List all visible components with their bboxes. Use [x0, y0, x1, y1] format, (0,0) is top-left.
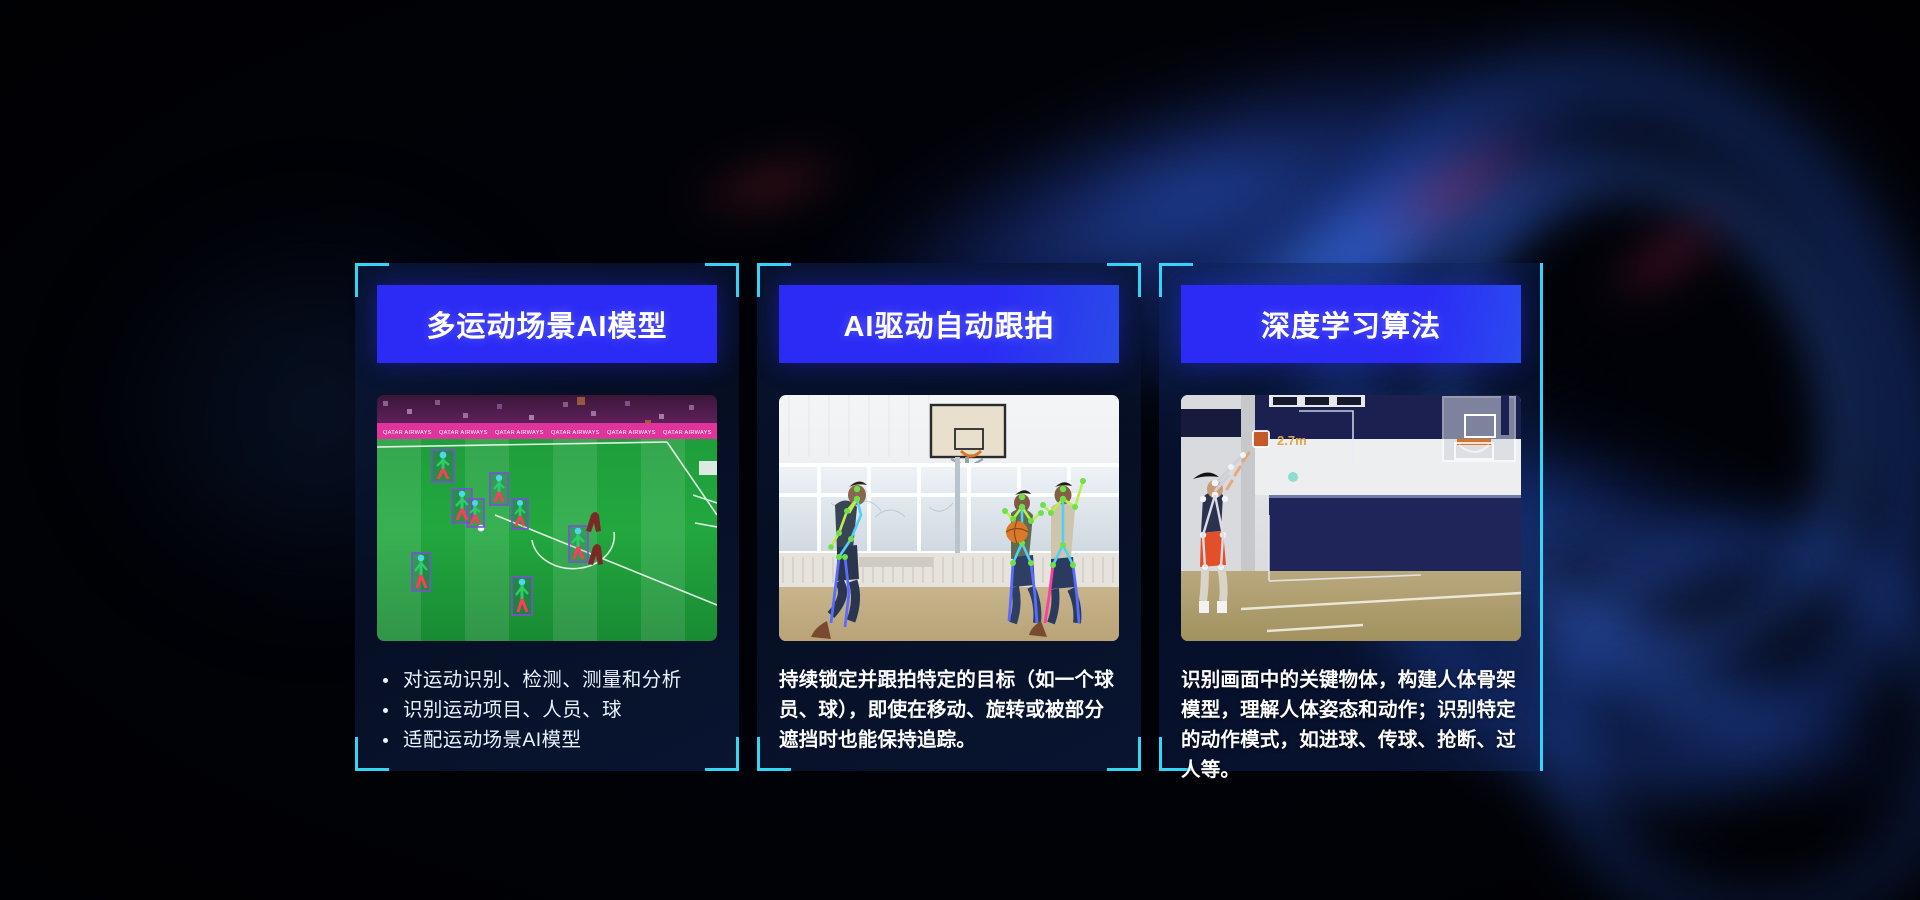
card-title-banner: 多运动场景AI模型	[377, 285, 717, 363]
svg-text:QATAR AIRWAYS: QATAR AIRWAYS	[439, 430, 488, 436]
card-title: 深度学习算法	[1261, 303, 1441, 345]
soccer-detection-illustration: QATAR AIRWAYS QATAR AIRWAYS QATAR AIRWAY…	[377, 395, 717, 641]
svg-text:QATAR AIRWAYS: QATAR AIRWAYS	[495, 430, 544, 436]
card-title-banner: AI驱动自动跟拍	[779, 285, 1119, 363]
feature-paragraph: 识别画面中的关键物体，构建人体骨架模型，理解人体姿态和动作；识别特定的动作模式，…	[1181, 665, 1521, 785]
bullet-item: 对运动识别、检测、测量和分析	[377, 665, 717, 695]
basketball-pose-photo	[779, 395, 1119, 641]
feature-card-row: 多运动场景AI模型	[355, 263, 1565, 771]
card-body: 持续锁定并跟拍特定的目标（如一个球员、球），即使在移动、旋转或被部分遮挡时也能保…	[779, 665, 1119, 755]
bullet-item: 适配运动场景AI模型	[377, 725, 717, 755]
feature-bullet-list: 对运动识别、检测、测量和分析 识别运动项目、人员、球 适配运动场景AI模型	[377, 665, 717, 755]
distance-label: 2.7m	[1277, 433, 1307, 448]
svg-text:QATAR AIRWAYS: QATAR AIRWAYS	[383, 430, 432, 436]
card-content: AI驱动自动跟拍	[779, 285, 1119, 749]
svg-text:QATAR AIRWAYS: QATAR AIRWAYS	[607, 430, 656, 436]
card-title: 多运动场景AI模型	[426, 303, 667, 345]
card-right-edge-line	[1540, 263, 1543, 771]
feature-card-deep-learning-algorithm[interactable]: 深度学习算法	[1159, 263, 1543, 771]
bullet-item: 识别运动项目、人员、球	[377, 695, 717, 725]
basketball-pose-illustration	[779, 395, 1119, 641]
soccer-detection-photo: QATAR AIRWAYS QATAR AIRWAYS QATAR AIRWAY…	[377, 395, 717, 641]
shot-trajectory-photo: 2.7m	[1181, 395, 1521, 641]
card-content: 深度学习算法	[1181, 285, 1521, 749]
shot-trajectory-illustration: 2.7m	[1181, 395, 1521, 641]
svg-text:QATAR AIRWAYS: QATAR AIRWAYS	[663, 430, 712, 436]
feature-card-multi-sport-ai-model[interactable]: 多运动场景AI模型	[355, 263, 739, 771]
card-body: 识别画面中的关键物体，构建人体骨架模型，理解人体姿态和动作；识别特定的动作模式，…	[1181, 665, 1521, 785]
card-body: 对运动识别、检测、测量和分析 识别运动项目、人员、球 适配运动场景AI模型	[377, 665, 717, 755]
feature-card-ai-auto-tracking[interactable]: AI驱动自动跟拍	[757, 263, 1141, 771]
card-title-banner: 深度学习算法	[1181, 285, 1521, 363]
svg-text:QATAR AIRWAYS: QATAR AIRWAYS	[551, 430, 600, 436]
card-title: AI驱动自动跟拍	[843, 303, 1054, 345]
feature-paragraph: 持续锁定并跟拍特定的目标（如一个球员、球），即使在移动、旋转或被部分遮挡时也能保…	[779, 665, 1119, 755]
card-content: 多运动场景AI模型	[377, 285, 717, 749]
